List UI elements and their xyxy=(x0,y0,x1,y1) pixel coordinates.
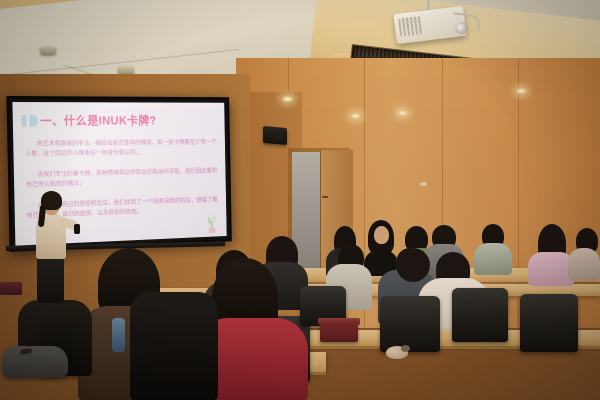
chair[interactable] xyxy=(520,294,578,352)
door-handle[interactable] xyxy=(322,196,328,198)
backpack[interactable] xyxy=(2,346,68,378)
presenter-legs xyxy=(37,255,64,303)
water-bottle[interactable] xyxy=(112,318,125,352)
ceiling-downlight-icon xyxy=(516,88,527,94)
wall-indicator-icon xyxy=(420,182,427,186)
wooden-box-red[interactable] xyxy=(320,322,358,342)
presentation-clicker[interactable] xyxy=(74,224,80,234)
chair[interactable] xyxy=(452,288,508,342)
attendee-dark-coat xyxy=(130,292,218,400)
slide-paragraph: 当我们专注的看卡牌，某种情绪和动作就会在脑海中浮现，我们因此看到自己所认知到的情… xyxy=(26,167,221,191)
wall-speaker xyxy=(263,126,287,145)
chair[interactable] xyxy=(380,296,440,352)
ceiling-downlight-icon xyxy=(397,110,408,116)
ceiling-downlight-icon xyxy=(350,113,361,119)
ceiling-downlight-icon xyxy=(282,96,293,102)
slide-decoration-icon xyxy=(22,115,39,127)
photo-scene: 一、什么是INUK卡牌? 用艺术和隐喻的手法，描绘出各式各样的情境，每一张卡牌都… xyxy=(0,0,600,400)
slide-title: 一、什么是INUK卡牌? xyxy=(40,112,157,129)
wooden-box-small[interactable] xyxy=(0,282,22,295)
slide-paragraph: 用艺术和隐喻的手法，描绘出各式各样的情境，每一张卡牌都至少有一个人像，这个固定的… xyxy=(25,138,220,160)
plush-toy-ear xyxy=(401,345,410,352)
ceiling-sprinkler-icon xyxy=(40,46,56,55)
plant-illustration-icon xyxy=(202,210,221,233)
